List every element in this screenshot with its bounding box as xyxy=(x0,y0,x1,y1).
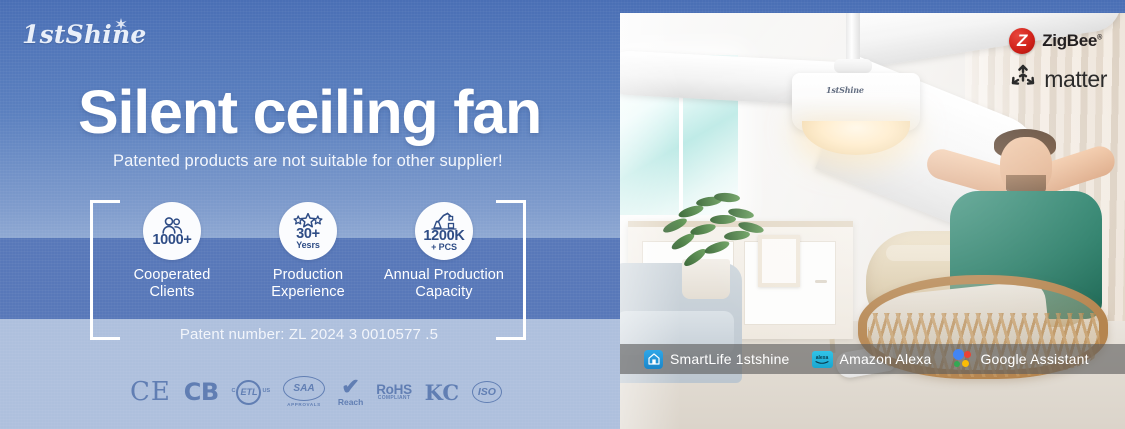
matter-label: matter xyxy=(1044,66,1107,93)
ecosystem-item-smartlife[interactable]: SmartLife 1stshine xyxy=(644,350,790,369)
google-assistant-icon xyxy=(953,349,973,369)
fan-canopy xyxy=(834,59,872,73)
stat-badge: 1000+ xyxy=(143,202,201,260)
ecosystem-label: SmartLife 1stshine xyxy=(670,351,790,367)
ce-label: CE xyxy=(130,379,171,405)
stat-label-line2: Capacity xyxy=(415,284,472,300)
zigbee-trademark: ® xyxy=(1097,34,1102,41)
cb-label: CB xyxy=(184,380,219,404)
stat-number: 1000+ xyxy=(152,233,191,248)
etl-suffix: US xyxy=(262,389,270,395)
page-subtitle: Patented products are not suitable for o… xyxy=(113,152,503,171)
certification-row: CE CB C ETL US SAA APPROVALS ✔ Reach RoH… xyxy=(130,372,502,412)
ecosystem-item-google-assistant[interactable]: Google Assistant xyxy=(953,349,1088,369)
svg-text:alexa: alexa xyxy=(816,355,829,361)
zigbee-z-mark: Z xyxy=(1017,32,1027,49)
stat-label-line1: Production xyxy=(273,267,343,283)
rohs-label: RoHS xyxy=(376,383,412,397)
stat-label-line2: Clients xyxy=(149,284,194,300)
ecosystem-compatibility-bar: SmartLife 1stshine alexa Amazon Alexa Go… xyxy=(620,344,1125,374)
stat-cooperated-clients: 1000+ Cooperated Clients xyxy=(108,202,236,301)
page-title: Silent ceiling fan xyxy=(78,82,541,143)
smartlife-icon xyxy=(644,350,663,369)
brand-logo[interactable]: 1stShine xyxy=(22,22,146,47)
stats-row: 1000+ Cooperated Clients 30+ Yesrs xyxy=(108,202,508,307)
stat-annual-production-capacity: 1200K + PCS Annual Production Capacity xyxy=(380,202,508,301)
cb-icon: CB xyxy=(184,380,219,404)
kc-icon: KC xyxy=(425,382,459,403)
stat-label-line1: Annual Production xyxy=(384,267,504,283)
ecosystem-label: Google Assistant xyxy=(980,351,1088,367)
etl-icon: C ETL US xyxy=(232,380,271,405)
ecosystem-item-alexa[interactable]: alexa Amazon Alexa xyxy=(812,351,932,368)
saa-icon: SAA APPROVALS xyxy=(283,376,325,407)
matter-badge: matter xyxy=(1009,64,1107,95)
stat-sub: + PCS xyxy=(431,243,457,252)
etl-prefix: C xyxy=(232,389,236,395)
patent-number: Patent number: ZL 2024 3 0010577 .5 xyxy=(108,326,510,343)
ce-icon: CE xyxy=(130,379,171,405)
sparkle-icon xyxy=(114,18,128,33)
saa-sub: APPROVALS xyxy=(287,403,321,408)
reach-label: Reach xyxy=(338,398,364,407)
stat-label-line2: Experience xyxy=(271,284,345,300)
matter-arrows-icon xyxy=(1009,64,1037,95)
stat-label: Cooperated Clients xyxy=(108,267,236,301)
stat-sub: Yesrs xyxy=(296,241,320,250)
reach-check-icon: ✔ xyxy=(341,378,359,397)
stat-badge: 30+ Yesrs xyxy=(279,202,337,260)
stat-label: Production Experience xyxy=(244,267,372,301)
etl-ring: ETL xyxy=(236,380,261,405)
zigbee-label: ZigBee® xyxy=(1042,31,1102,51)
ecosystem-label: Amazon Alexa xyxy=(840,351,932,367)
stat-label: Annual Production Capacity xyxy=(380,267,508,301)
amazon-alexa-icon: alexa xyxy=(812,351,833,368)
rohs-icon: RoHS COMPLIANT xyxy=(376,383,412,402)
fan-downrod xyxy=(846,13,860,65)
stat-label-line1: Cooperated xyxy=(134,267,211,283)
zigbee-icon: Z xyxy=(1009,28,1035,54)
iso-label: ISO xyxy=(472,381,502,403)
stat-badge: 1200K + PCS xyxy=(415,202,473,260)
fan-brand-mark: 1stShine xyxy=(826,85,864,95)
stat-production-experience: 30+ Yesrs Production Experience xyxy=(244,202,372,301)
kc-label: KC xyxy=(425,382,459,403)
promo-banner: 1stShine Silent ceiling fan Patented pro… xyxy=(0,0,1125,429)
protocol-badges: Z ZigBee® xyxy=(1009,28,1107,95)
rohs-sub: COMPLIANT xyxy=(378,396,410,401)
reach-icon: ✔ Reach xyxy=(338,378,364,406)
saa-label: SAA xyxy=(283,376,325,401)
iso-icon: ISO xyxy=(472,381,502,403)
zigbee-badge: Z ZigBee® xyxy=(1009,28,1102,54)
